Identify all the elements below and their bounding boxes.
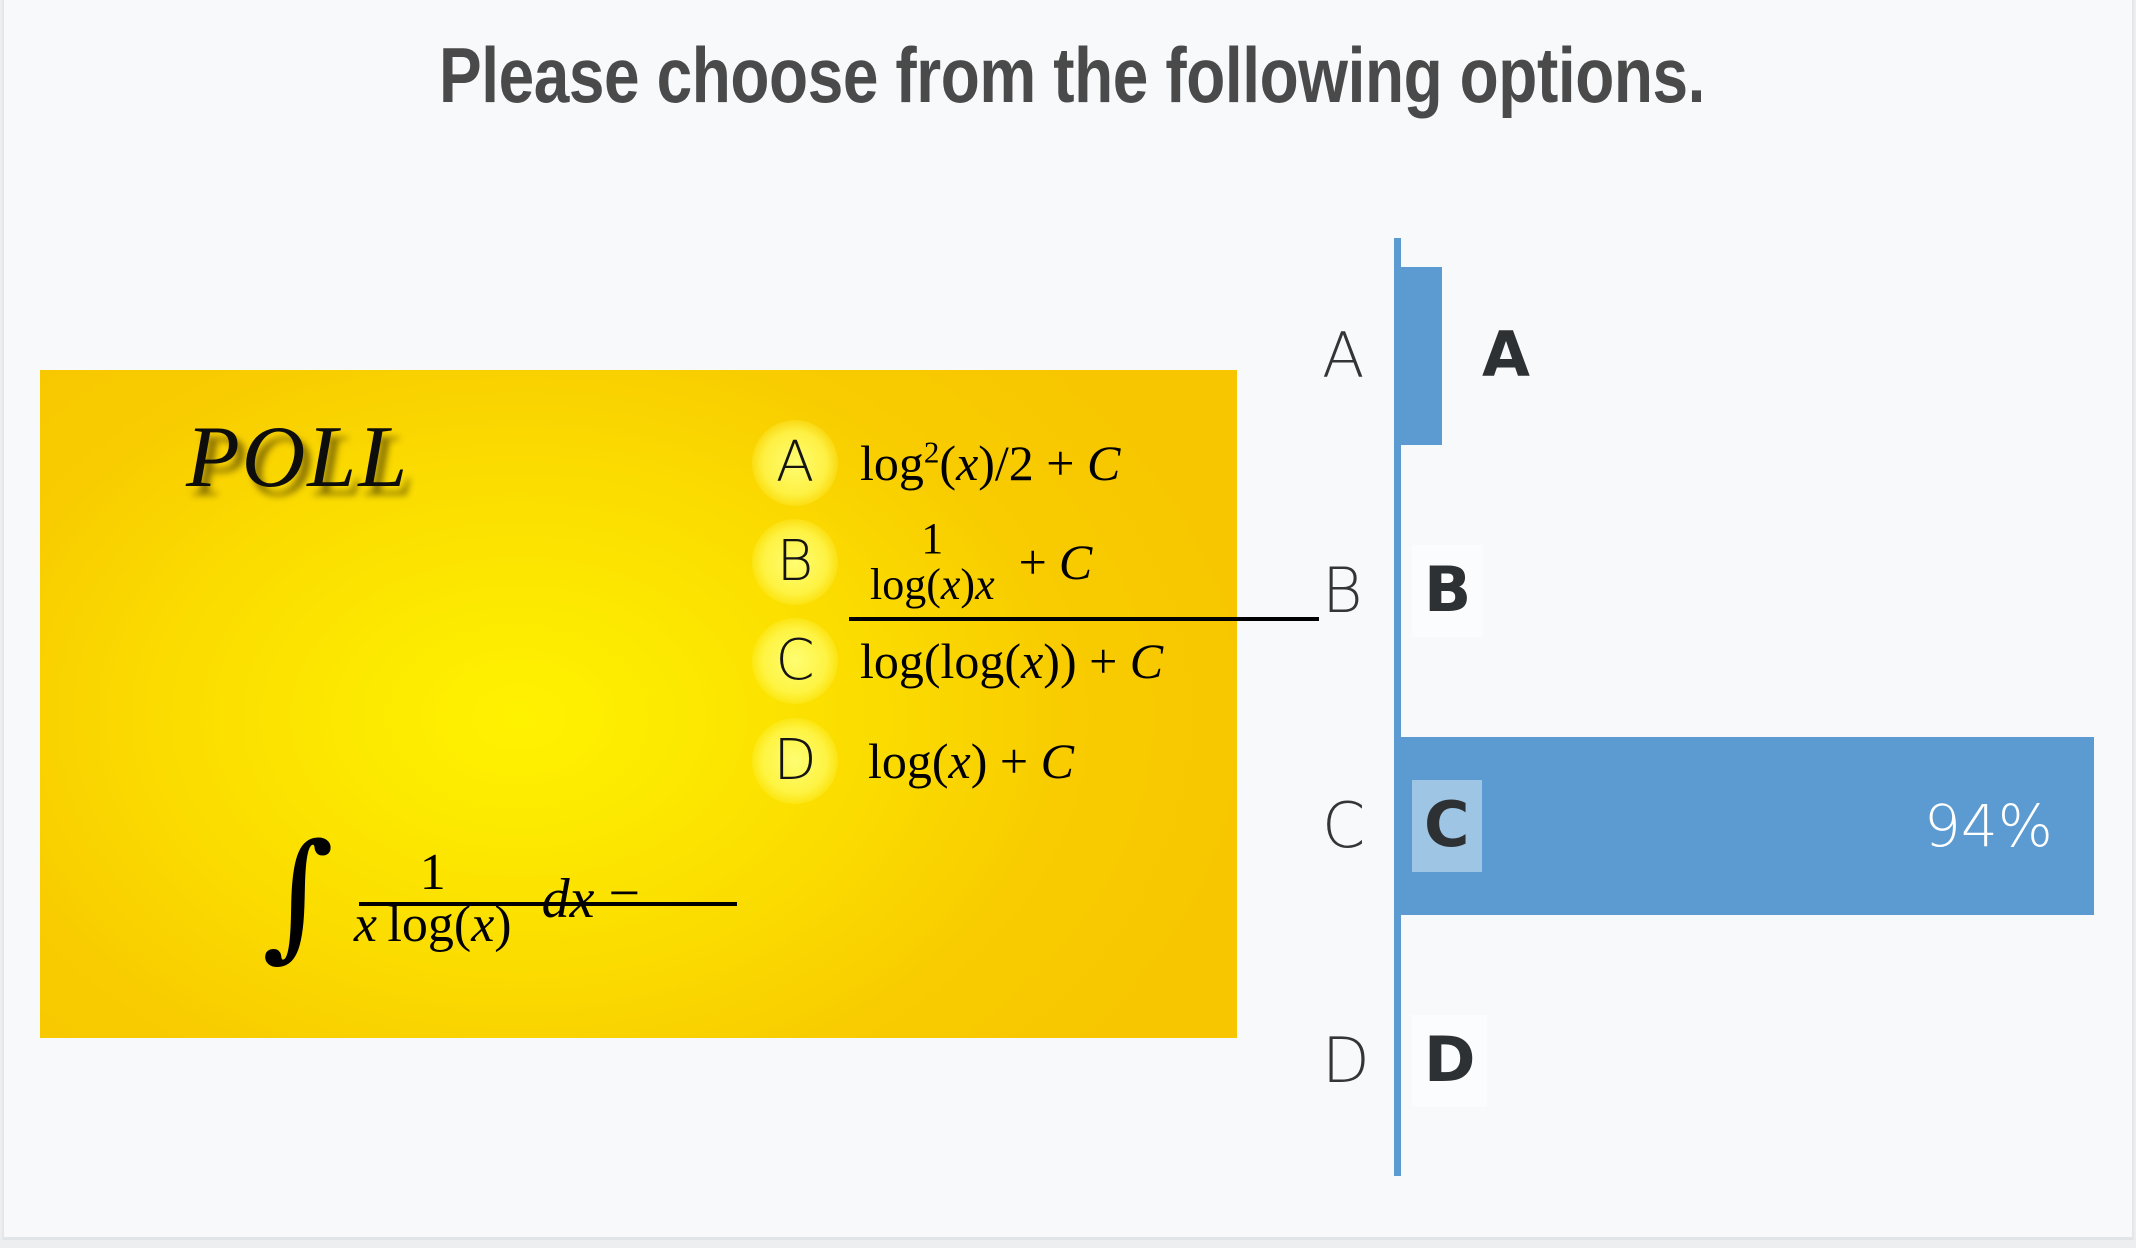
opt-b-c: C — [1059, 536, 1092, 589]
integral-sign: ∫ — [262, 841, 334, 949]
opt-d-post: ) + — [971, 733, 1041, 789]
integral-denominator: x log(x) — [344, 899, 522, 951]
opt-d-x: x — [949, 733, 971, 789]
integral-tail: dx= — [542, 871, 640, 927]
slide-card: Please choose from the following options… — [2, 0, 2134, 1240]
bar-label-b: B — [1412, 545, 1483, 637]
option-letter-b: B — [752, 519, 838, 605]
chart-row-c: C C 94% — [1304, 708, 2104, 943]
bar-value-c: 94% — [1924, 797, 2053, 855]
option-letter-d: D — [752, 718, 838, 804]
option-letter-c: C — [752, 618, 838, 704]
integral-fraction: 1 x log(x) — [344, 847, 522, 951]
option-text-b: 1 log(x)x + C — [860, 516, 1092, 608]
opt-a-exponent: 2 — [924, 434, 940, 469]
opt-a-close: )/2 + — [978, 435, 1087, 491]
opt-d-pre: log( — [868, 733, 949, 789]
opt-b-plus: + — [1019, 536, 1047, 589]
bar-label-a: A — [1470, 310, 1542, 402]
integral-expression: ∫ 1 x log(x) dx= — [262, 845, 640, 953]
chart-row-a: A A — [1304, 238, 2104, 473]
answer-option-b[interactable]: B 1 log(x)x + C — [752, 516, 1222, 608]
chart-row-d: D D — [1304, 943, 2104, 1178]
poll-wordmark: POLL — [186, 414, 409, 502]
opt-b-den-log: log( — [870, 560, 941, 609]
fraction-bar — [849, 617, 1319, 621]
page-title: Please choose from the following options… — [196, 30, 1948, 121]
opt-b-den-x2: x — [975, 560, 995, 609]
integral-numerator: 1 — [410, 847, 456, 899]
bar-a — [1401, 267, 1442, 445]
axis-label-c: C — [1322, 795, 1365, 857]
option-text-d: log(x) + C — [868, 735, 1074, 788]
axis-label-b: B — [1322, 560, 1363, 622]
opt-a-c: C — [1087, 435, 1120, 491]
opt-c-c: C — [1130, 633, 1163, 689]
answer-option-a[interactable]: A log2(x)/2 + C — [752, 420, 1222, 506]
opt-b-numerator: 1 — [911, 516, 953, 562]
answer-option-d[interactable]: D log(x) + C — [752, 718, 1222, 804]
bar-label-d: D — [1412, 1015, 1487, 1107]
answer-option-c[interactable]: C log(log(x)) + C — [752, 618, 1222, 704]
opt-a-open: ( — [939, 435, 956, 491]
opt-c-x: x — [1021, 633, 1043, 689]
opt-a-log: log — [860, 435, 924, 491]
opt-a-x: x — [956, 435, 978, 491]
equals-sign: = — [608, 868, 640, 930]
opt-b-den-close: ) — [960, 560, 975, 609]
opt-b-denominator: log(x)x — [860, 562, 1005, 608]
bar-label-c: C — [1412, 780, 1482, 872]
opt-c-pre: log(log( — [860, 633, 1021, 689]
opt-c-post: )) + — [1043, 633, 1130, 689]
option-b-fraction: 1 log(x)x — [860, 516, 1005, 608]
option-text-c: log(log(x)) + C — [860, 635, 1163, 688]
chart-row-b: B B — [1304, 473, 2104, 708]
option-text-a: log2(x)/2 + C — [860, 437, 1120, 490]
option-letter-a: A — [752, 420, 838, 506]
axis-label-d: D — [1322, 1030, 1370, 1092]
axis-label-a: A — [1322, 325, 1364, 387]
fraction-bar — [359, 902, 737, 906]
answer-options-list: A log2(x)/2 + C B 1 log(x)x + C C log(lo… — [752, 420, 1222, 808]
opt-b-den-x: x — [941, 560, 961, 609]
differential: dx — [542, 868, 595, 930]
opt-d-c: C — [1041, 733, 1074, 789]
poll-results-chart: A A B B C C 94% D D — [1304, 238, 2104, 1178]
